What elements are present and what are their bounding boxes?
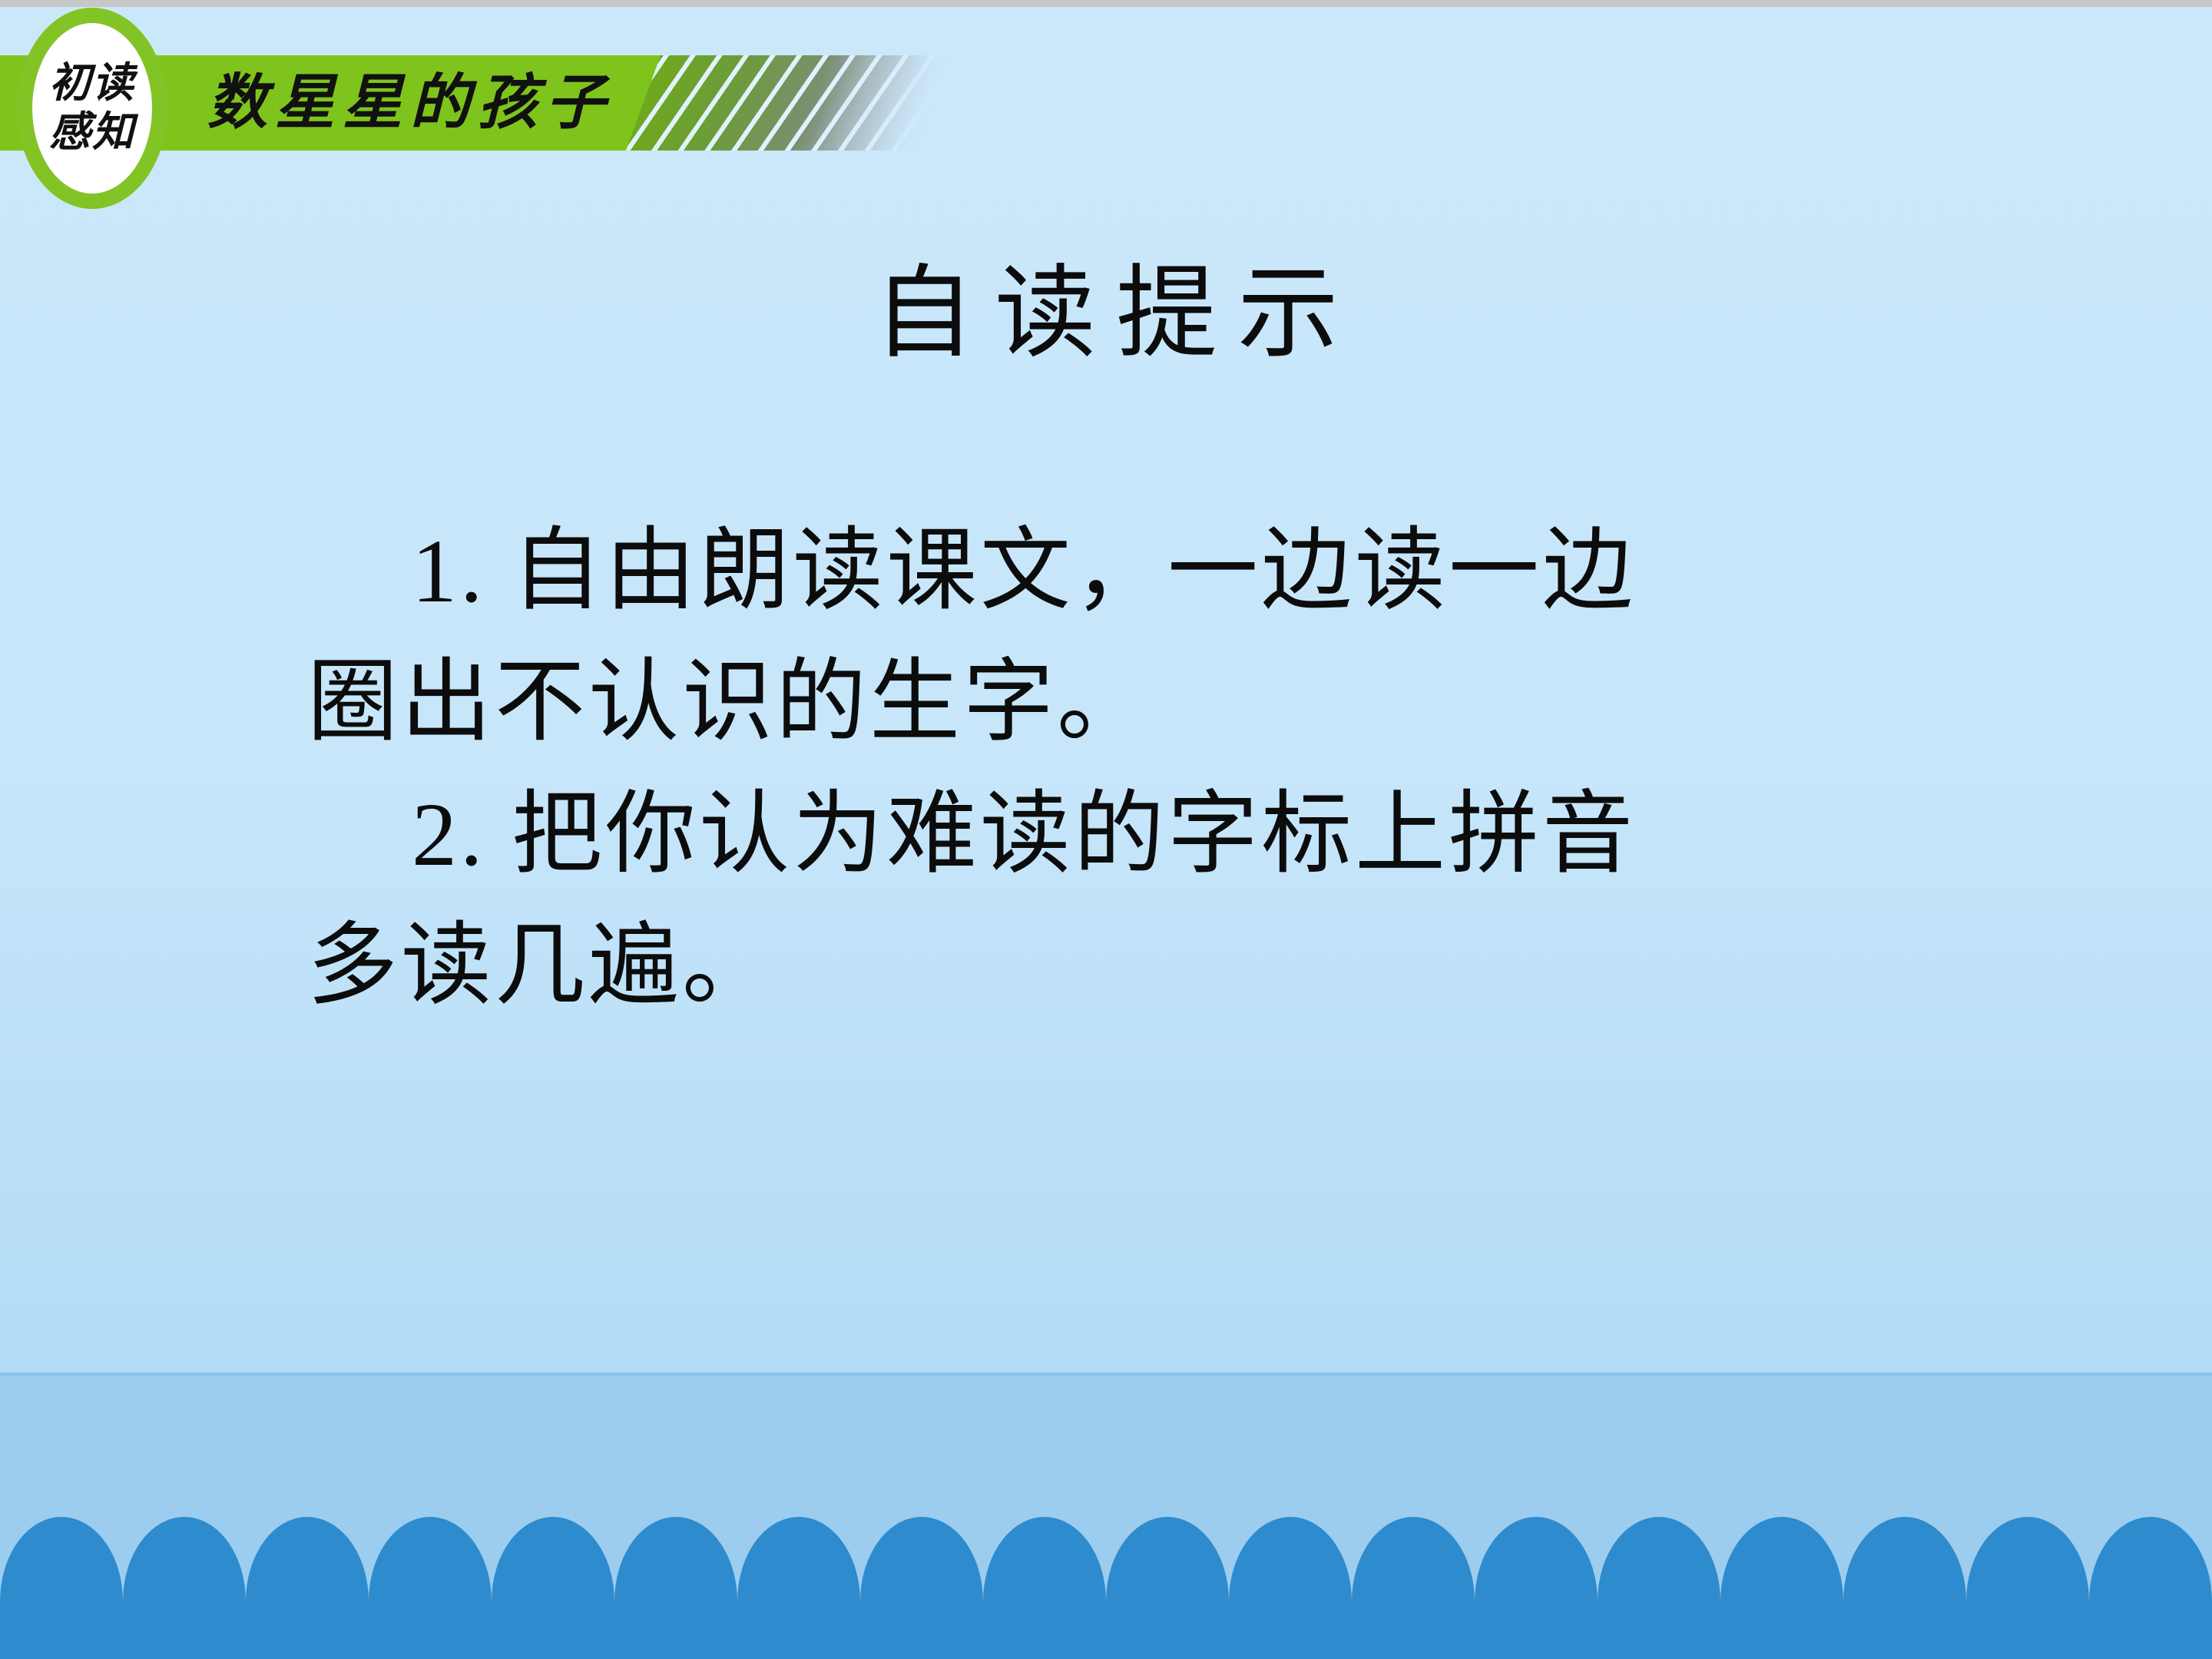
arch-shape-icon bbox=[1413, 1617, 1536, 1659]
top-divider-rule bbox=[0, 0, 2212, 7]
arch-shape-icon bbox=[0, 1617, 61, 1659]
page-title: 自读提示 bbox=[0, 253, 2212, 375]
arch-shape-icon bbox=[1290, 1617, 1413, 1659]
band-top-rule bbox=[0, 1373, 2212, 1376]
arch-shape-icon bbox=[799, 1617, 922, 1659]
arch-shape-icon bbox=[61, 1617, 184, 1659]
lesson-title: 数星星的孩子 bbox=[207, 73, 613, 133]
arch-shape-icon bbox=[1536, 1617, 1659, 1659]
arch-shape-icon bbox=[1659, 1617, 1782, 1659]
arch-shape-icon bbox=[307, 1617, 430, 1659]
list-item: 圈出不认识的生字。 bbox=[307, 637, 2074, 768]
arch-shape-icon bbox=[1782, 1617, 1905, 1659]
section-badge-line-1: 初读 bbox=[49, 59, 135, 108]
slide-canvas: 数星星的孩子 初读 感知 自读提示 1. 自由朗读课文，一边读一边 圈出不认识的… bbox=[0, 0, 2212, 1659]
arch-shape-icon bbox=[2028, 1617, 2151, 1659]
arch-shape-icon bbox=[553, 1617, 676, 1659]
list-item: 多读几遍。 bbox=[307, 900, 2074, 1031]
arch-shape-icon bbox=[1167, 1617, 1290, 1659]
arch-row-front bbox=[0, 1617, 2212, 1659]
arch-shape-icon bbox=[1905, 1617, 2028, 1659]
list-item: 1. 自由朗读课文，一边读一边 bbox=[307, 505, 2074, 637]
footer-decoration-band bbox=[0, 1373, 2212, 1659]
banner-diagonal-stripes-icon bbox=[626, 55, 952, 151]
arch-shape-icon bbox=[2151, 1617, 2212, 1659]
section-badge-line-2: 感知 bbox=[49, 108, 135, 157]
arch-shape-icon bbox=[430, 1617, 553, 1659]
arch-shape-icon bbox=[1045, 1617, 1167, 1659]
list-item: 2. 把你认为难读的字标上拼音 bbox=[307, 769, 2074, 900]
arch-shape-icon bbox=[922, 1617, 1045, 1659]
section-badge: 初读 感知 bbox=[17, 8, 167, 209]
arch-shape-icon bbox=[184, 1617, 307, 1659]
arch-shape-icon bbox=[676, 1617, 799, 1659]
instructions-list: 1. 自由朗读课文，一边读一边 圈出不认识的生字。 2. 把你认为难读的字标上拼… bbox=[0, 505, 2212, 1031]
slide-content: 自读提示 1. 自由朗读课文，一边读一边 圈出不认识的生字。 2. 把你认为难读… bbox=[0, 253, 2212, 1031]
